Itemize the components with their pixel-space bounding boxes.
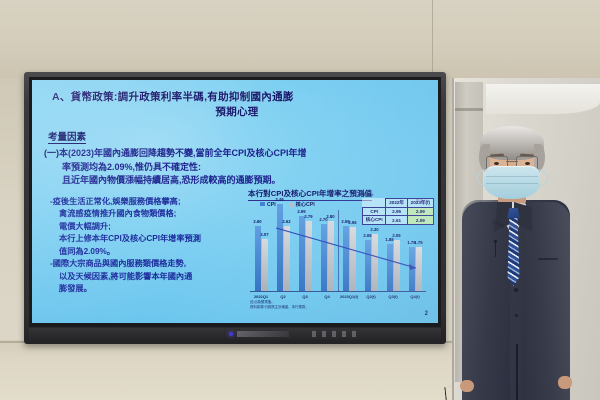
wall-upper bbox=[0, 0, 600, 78]
display-screen[interactable]: A、貨幣政策:調升政策利率半碼,有助抑制國內通膨 預期心理 考量因素 (一)本(… bbox=[32, 80, 438, 323]
bullet-item: -國際大宗商品與國內服務類價格走勢, bbox=[50, 258, 246, 270]
table-cell-core-2023: 2.09 bbox=[407, 216, 433, 225]
suit-jacket-right bbox=[522, 202, 570, 400]
table-cell-core-2022: 2.61 bbox=[386, 216, 407, 225]
eye-right bbox=[525, 162, 530, 165]
mask-ear-loop-right bbox=[538, 170, 548, 186]
mask-pleat bbox=[486, 176, 538, 177]
x-tick-label: Q4 bbox=[317, 294, 337, 299]
slide-bullet-list: -疫後生活正常化,娛樂服務價格攀高; 禽流感疫情推升國內食物類價格; 電價大幅調… bbox=[50, 196, 246, 296]
x-tick-label: Q3 bbox=[295, 294, 315, 299]
forecast-table: 2022年 2023年(f) CPI 2.95 2.09 核心CPI 2.61 … bbox=[362, 198, 434, 225]
table-row: CPI 2.95 2.09 bbox=[363, 208, 434, 216]
wall-base-band bbox=[0, 340, 460, 400]
legend-label-core: 核心CPI bbox=[296, 202, 315, 208]
table-header-2022: 2022年 bbox=[386, 199, 407, 208]
legend-item-cpi: CPI bbox=[260, 202, 276, 208]
x-tick-label: Q4(f) bbox=[405, 294, 425, 299]
jacket-button-bottom bbox=[515, 314, 518, 317]
table-cell-cpi-2023: 2.09 bbox=[407, 208, 433, 216]
table-row-label-core: 核心CPI bbox=[363, 216, 386, 225]
wall-niche-top-edge bbox=[455, 108, 483, 111]
microphone-wire bbox=[495, 243, 496, 257]
wall-mounted-display[interactable]: A、貨幣政策:調升政策利率半碼,有助抑制國內通膨 預期心理 考量因素 (一)本(… bbox=[24, 72, 446, 344]
slide-title-line-2: 預期心理 bbox=[46, 105, 428, 120]
bullet-item: 電價大幅調升; bbox=[50, 221, 246, 233]
display-brand-logo bbox=[237, 331, 289, 337]
jacket-pocket bbox=[538, 258, 558, 260]
table-cell-cpi-2022: 2.95 bbox=[386, 208, 407, 216]
table-row: 核心CPI 2.61 2.09 bbox=[363, 216, 434, 225]
paragraph-line-1: 本(2023)年國內通膨回降趨勢不變,當前全年CPI及核心CPI年增 bbox=[59, 148, 307, 158]
chart-legend: CPI 核心CPI bbox=[260, 201, 315, 208]
slide-title-line-1: A、貨幣政策:調升政策利率半碼,有助抑制國內通膨 bbox=[46, 90, 428, 105]
legend-label-cpi: CPI bbox=[267, 202, 276, 208]
x-tick-label: Q3(f) bbox=[383, 294, 403, 299]
conference-room-scene: A、貨幣政策:調升政策利率半碼,有助抑制國內通膨 預期心理 考量因素 (一)本(… bbox=[0, 0, 600, 400]
power-led-icon bbox=[229, 332, 233, 336]
wall-gloss-highlight bbox=[486, 84, 600, 114]
bullet-item: 本行上修本年CPI及核心CPI年增率預測 bbox=[50, 233, 246, 245]
x-tick-label: Q2 bbox=[273, 294, 293, 299]
table-corner-cell bbox=[363, 199, 386, 208]
jacket-center-seam bbox=[516, 344, 518, 400]
bullet-item: 值同為2.09%。 bbox=[50, 246, 246, 258]
jacket-button-top bbox=[514, 288, 518, 292]
paragraph-line-3: 且近年國內物價漲幅持續居高,恐形成較高的通膨預期。 bbox=[44, 174, 434, 188]
bullet-item: 禽流感疫情推升國內食物類價格; bbox=[50, 208, 246, 220]
slide-paragraph: (一)本(2023)年國內通膨回降趨勢不變,當前全年CPI及核心CPI年增 率預… bbox=[44, 147, 434, 188]
x-tick-label: 2022Q1 bbox=[251, 294, 271, 299]
bullet-item: 膨發展。 bbox=[50, 283, 246, 295]
presentation-slide: A、貨幣政策:調升政策利率半碼,有助抑制國內通膨 預期心理 考量因素 (一)本(… bbox=[32, 80, 438, 323]
x-tick-label: Q2(f) bbox=[361, 294, 381, 299]
chart-title: 本行對CPI及核心CPI年增率之預測值 bbox=[248, 188, 372, 201]
table-header-row: 2022年 2023年(f) bbox=[363, 199, 434, 208]
pointer-stick bbox=[444, 385, 468, 400]
speaker-person bbox=[446, 118, 600, 400]
bullet-item: -疫後生活正常化,娛樂服務價格攀高; bbox=[50, 196, 246, 208]
table-row-label-cpi: CPI bbox=[363, 208, 386, 216]
wall-seam bbox=[432, 0, 433, 78]
section-heading: 考量因素 bbox=[48, 132, 86, 144]
chart-x-tick-labels: 2022Q1Q2Q3Q42023Q1(f)Q2(f)Q3(f)Q4(f) bbox=[250, 294, 426, 299]
slide-title: A、貨幣政策:調升政策利率半碼,有助抑制國內通膨 預期心理 bbox=[46, 90, 428, 120]
bar-value-label: 3.49 bbox=[275, 197, 283, 202]
paragraph-line-2: 率預測均為2.09%,惟仍具不確定性: bbox=[44, 161, 434, 175]
glasses-bridge bbox=[506, 161, 518, 162]
legend-swatch-core bbox=[289, 203, 294, 207]
mask-ear-loop-left bbox=[477, 170, 487, 186]
legend-item-core: 核心CPI bbox=[289, 201, 315, 208]
mask-pleat bbox=[486, 183, 538, 184]
display-bottom-bezel bbox=[29, 328, 441, 340]
display-control-buttons[interactable] bbox=[312, 331, 358, 337]
chart-footnotes: 註:(f)為預測值。 資料來源:行政院主計總處、本行預測。 bbox=[250, 300, 309, 310]
paragraph-marker: (一) bbox=[44, 148, 59, 158]
legend-swatch-cpi bbox=[260, 202, 265, 206]
eye-left bbox=[494, 162, 499, 165]
hand-right bbox=[558, 376, 572, 389]
suit-jacket-left bbox=[462, 202, 510, 400]
slide-page-number: 2 bbox=[425, 311, 428, 317]
bullet-item: 以及天候因素,將可能影響本年國內通 bbox=[50, 271, 246, 283]
chart-footnote-2: 資料來源:行政院主計總處、本行預測。 bbox=[250, 305, 309, 310]
x-tick-label: 2023Q1(f) bbox=[339, 294, 359, 299]
table-header-2023: 2023年(f) bbox=[407, 199, 433, 208]
